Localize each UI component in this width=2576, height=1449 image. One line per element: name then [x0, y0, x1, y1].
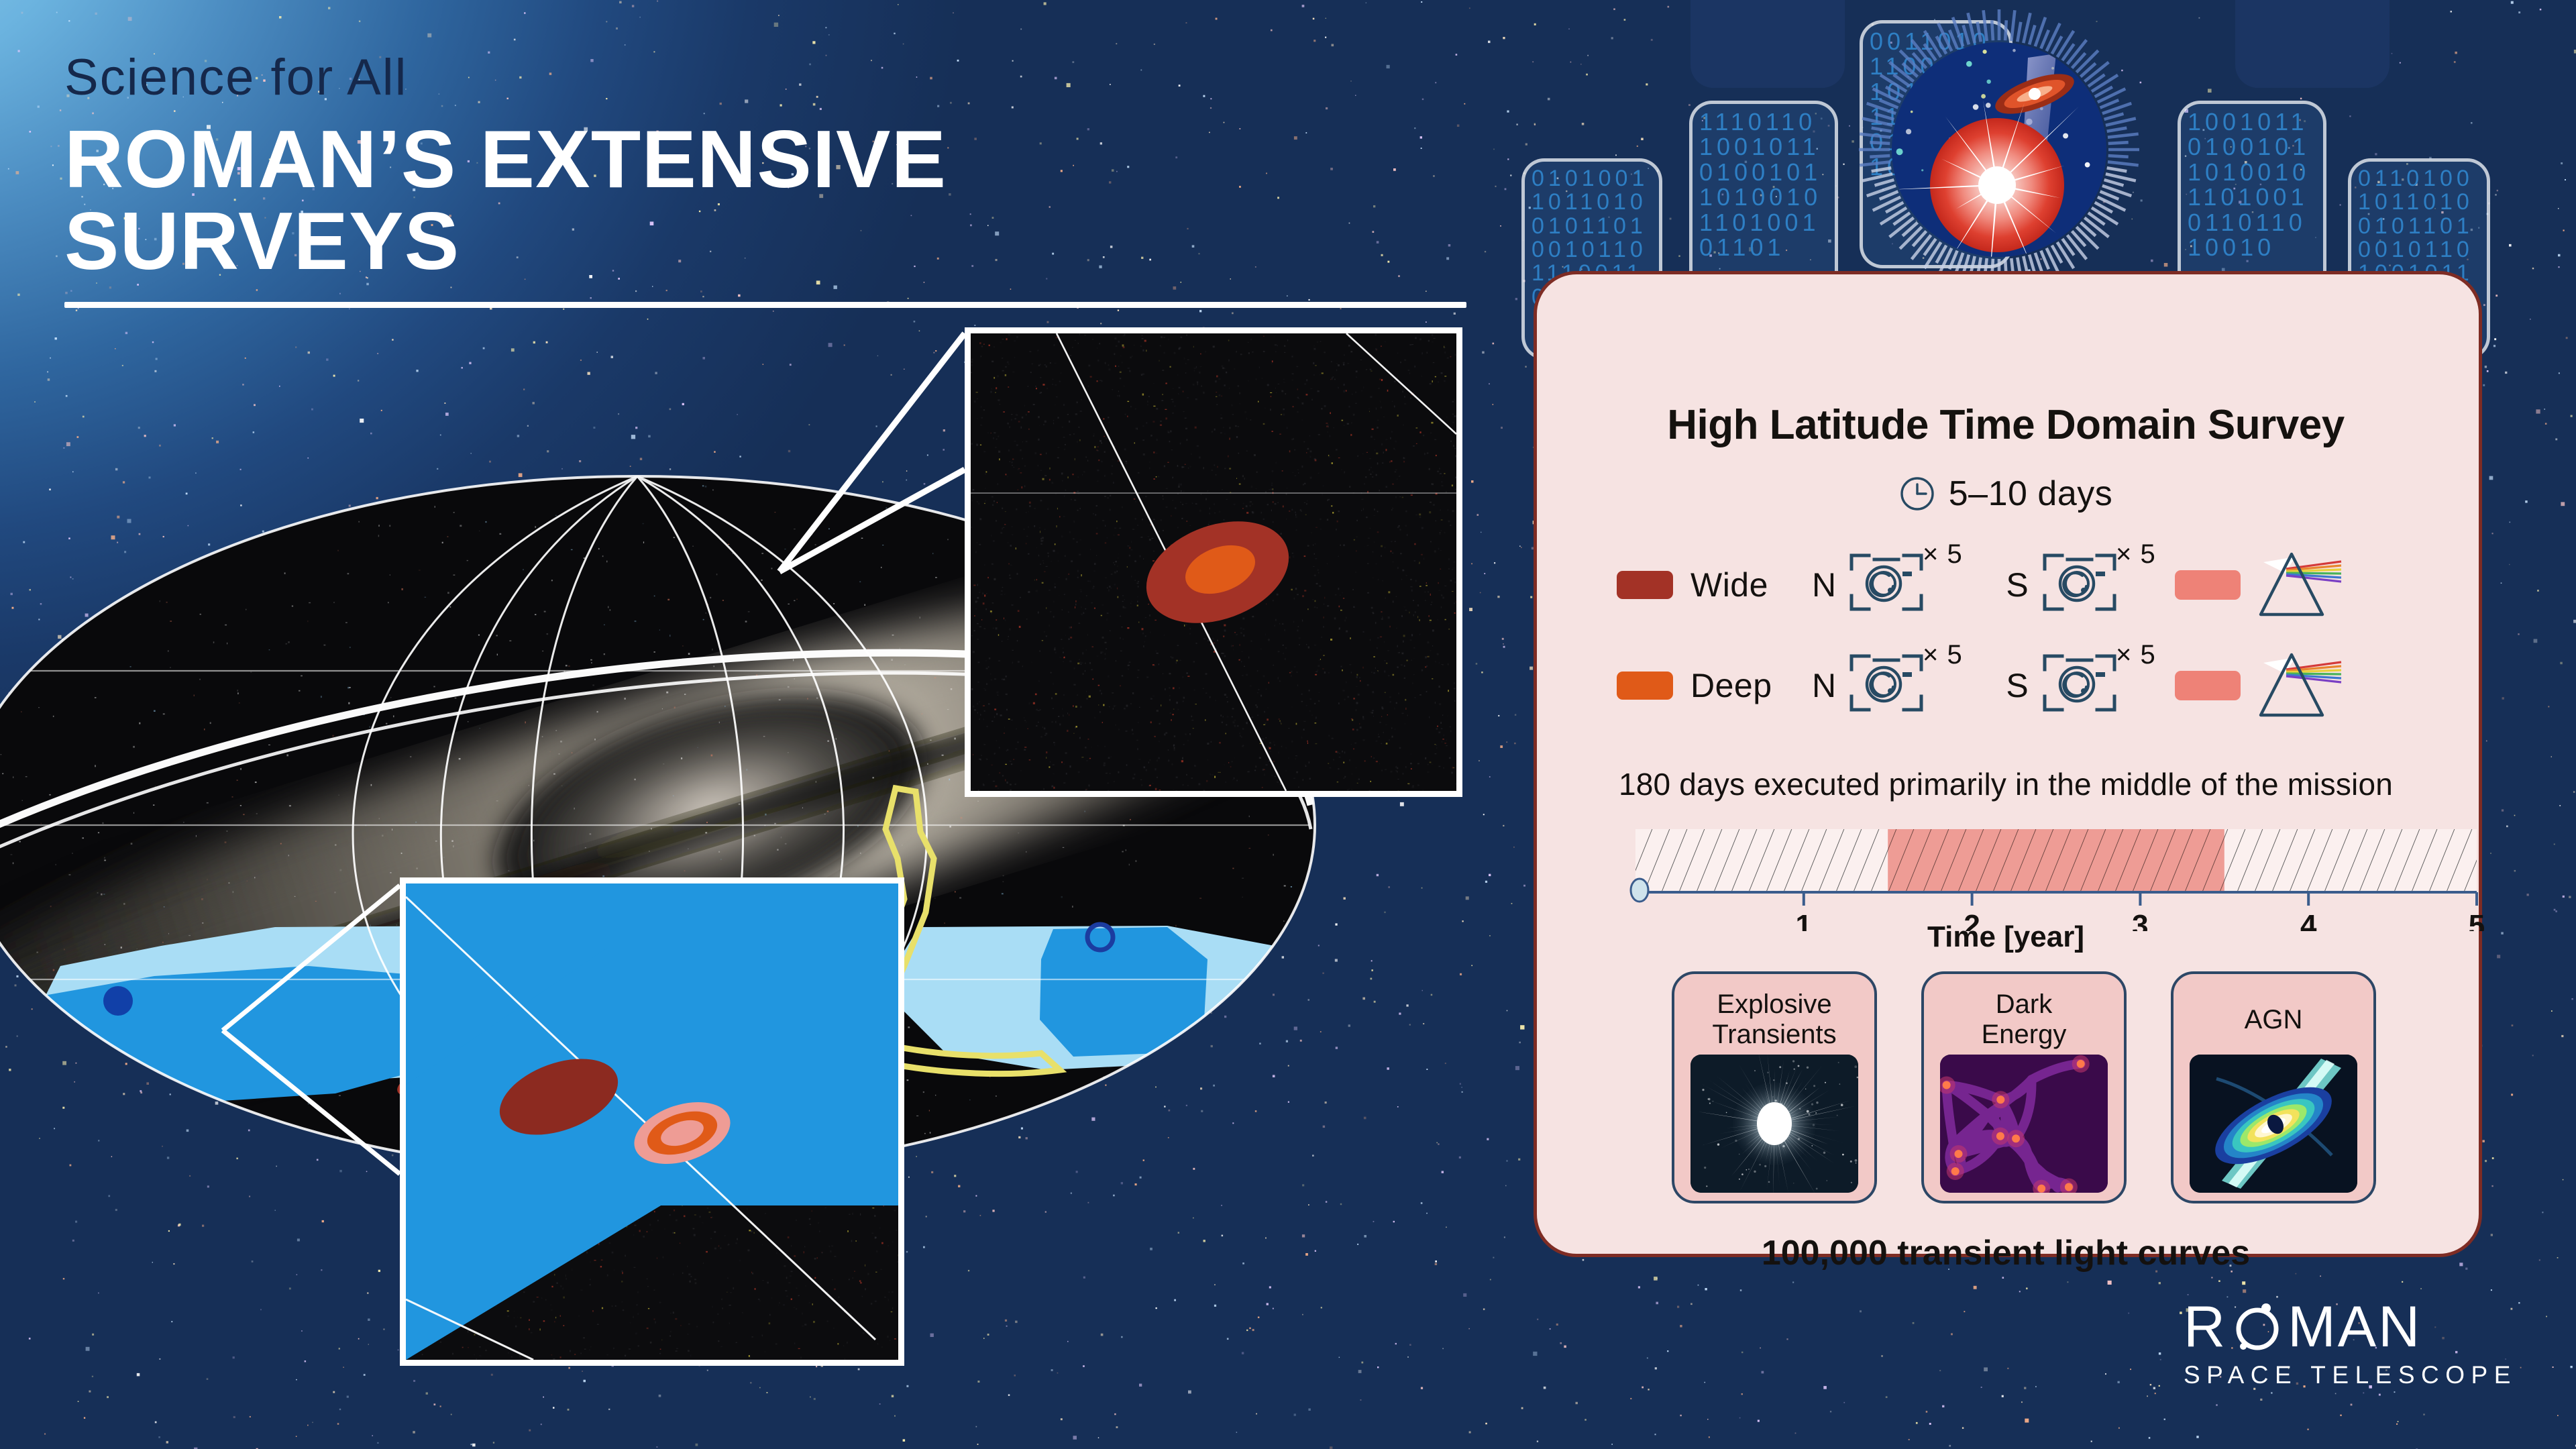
- prism-icon: [2258, 550, 2345, 620]
- cosmic-web-thumb: [1940, 1055, 2108, 1193]
- title-block: Science for All ROMAN’S EXTENSIVE SURVEY…: [64, 52, 1205, 308]
- roman-space-telescope-logo: R MAN SPACE TELESCOPE: [2184, 1298, 2532, 1399]
- wide-south-camera-group: × 5: [2042, 551, 2127, 619]
- science-card-agn[interactable]: AGN: [2171, 971, 2376, 1203]
- timeline-axis-title: Time [year]: [1516, 920, 2495, 954]
- logo-letter-r: R: [2184, 1298, 2227, 1356]
- wide-prism: [2258, 550, 2345, 620]
- inset-deep-survey-zoom: [400, 877, 904, 1366]
- kicker-text: Science for All: [64, 52, 1205, 103]
- camera-icon: [1849, 652, 1924, 714]
- wide-north-camera-group: × 5: [1849, 551, 1933, 619]
- wide-south-label: S: [1998, 566, 2037, 604]
- cadence-value: 5–10 days: [1949, 474, 2112, 514]
- wide-south-multiplier: × 5: [2116, 539, 2156, 570]
- wide-label: Wide: [1673, 566, 1805, 604]
- wide-color-swatch: [1617, 571, 1673, 599]
- science-card-dark-energy[interactable]: Dark Energy: [1921, 971, 2127, 1203]
- supernova-thumb: [1690, 1055, 1858, 1193]
- wide-north-multiplier: × 5: [1923, 539, 1963, 570]
- camera-icon: [1849, 551, 1924, 613]
- card-title: Explosive Transients: [1712, 985, 1836, 1055]
- cadence-row: 5–10 days: [1516, 474, 2495, 514]
- footer-statistic: 100,000 transient light curves: [1516, 1233, 2495, 1273]
- survey-info-panel: 0101001101101001011010010110111001101001…: [1516, 0, 2495, 1275]
- deep-north-label: N: [1805, 666, 1843, 705]
- panel-heading: High Latitude Time Domain Survey: [1516, 401, 2495, 449]
- agn-thumb: [2190, 1055, 2357, 1193]
- supernova-medallion-icon: [1855, 5, 2143, 294]
- page-title: ROMAN’S EXTENSIVE SURVEYS: [64, 118, 1205, 282]
- card-title: AGN: [2245, 985, 2303, 1055]
- timeline-note: 180 days executed primarily in the middl…: [1516, 766, 2495, 802]
- orbital-o-icon: [2229, 1298, 2286, 1356]
- panel-notch: [2235, 0, 2390, 88]
- panel-notch: [1690, 0, 1845, 88]
- deep-south-multiplier: × 5: [2116, 640, 2156, 670]
- wide-north-label: N: [1805, 566, 1843, 604]
- clock-icon: [1899, 476, 1935, 512]
- camera-icon: [2042, 652, 2117, 714]
- inset-wide-survey-zoom: [965, 327, 1462, 797]
- science-card-explosive-transients[interactable]: Explosive Transients: [1672, 971, 1877, 1203]
- science-cards-row: Explosive Transients Dark Energy: [1672, 971, 2376, 1203]
- deep-prism: [2258, 651, 2345, 720]
- mission-timeline-chart: 12345: [1623, 813, 2489, 931]
- card-title: Dark Energy: [1982, 985, 2067, 1055]
- wide-filter-bar: [2175, 570, 2241, 600]
- deep-north-multiplier: × 5: [1923, 640, 1963, 670]
- logo-letters-man: MAN: [2288, 1298, 2422, 1356]
- title-divider: [64, 302, 1466, 308]
- logo-tagline: SPACE TELESCOPE: [2184, 1361, 2532, 1389]
- deep-north-camera-group: × 5: [1849, 652, 1933, 719]
- survey-row-wide: Wide N × 5 S: [1617, 550, 2489, 620]
- deep-filter-bar: [2175, 671, 2241, 700]
- deep-south-label: S: [1998, 666, 2037, 705]
- deep-label: Deep: [1673, 666, 1805, 705]
- deep-color-swatch: [1617, 672, 1673, 700]
- logo-wordmark: R MAN: [2184, 1298, 2532, 1356]
- camera-icon: [2042, 551, 2117, 613]
- prism-icon: [2258, 651, 2345, 720]
- survey-row-deep: Deep N × 5 S: [1617, 651, 2489, 720]
- deep-south-camera-group: × 5: [2042, 652, 2127, 719]
